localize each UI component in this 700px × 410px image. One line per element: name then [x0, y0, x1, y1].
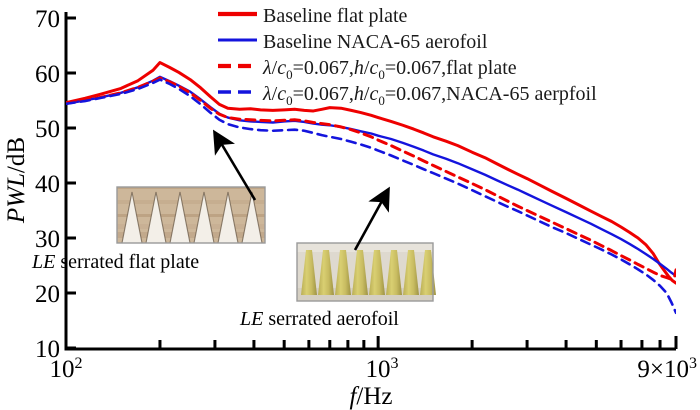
y-tick-70: 70 — [35, 6, 60, 33]
legend: Baseline flat plate Baseline NACA-65 aer… — [218, 5, 597, 108]
y-tick-50: 50 — [35, 116, 60, 143]
y-tick-20: 20 — [35, 281, 60, 308]
x-tick-9000: 9×103 — [637, 355, 697, 383]
legend-label-1: Baseline NACA-65 aerofoil — [263, 31, 488, 53]
legend-label-0: Baseline flat plate — [263, 5, 408, 27]
y-tick-40: 40 — [35, 171, 60, 198]
inset-aerofoil-photo — [297, 243, 436, 301]
arrow-to-aerofoil — [355, 190, 388, 250]
y-axis-labels: 70 60 50 40 30 20 10 — [35, 6, 60, 363]
legend-item-serrated-flat-plate[interactable]: λ/c0=0.067,h/c0=0.067,flat plate — [218, 57, 517, 82]
y-axis-title: PWL/dB — [3, 137, 30, 224]
legend-item-baseline-flat-plate[interactable]: Baseline flat plate — [218, 5, 408, 27]
y-tick-60: 60 — [35, 61, 60, 88]
caption-aerofoil: LE serrated aerofoil — [239, 308, 399, 330]
x-tick-100: 102 — [50, 355, 83, 383]
legend-label-3: λ/c0=0.067,h/c0=0.067,NACA-65 aerpfoil — [262, 83, 597, 108]
legend-label-2: λ/c0=0.067,h/c0=0.067,flat plate — [262, 57, 517, 82]
inset-flat-plate-photo — [117, 187, 265, 243]
caption-flat-plate: LE serrated flat plate — [31, 251, 199, 273]
legend-item-serrated-naca65[interactable]: λ/c0=0.067,h/c0=0.067,NACA-65 aerpfoil — [218, 83, 597, 108]
x-axis-title: f/Hz — [349, 383, 392, 410]
x-tick-1000: 103 — [366, 355, 399, 383]
legend-item-baseline-naca65[interactable]: Baseline NACA-65 aerofoil — [218, 31, 488, 53]
figure-container: 70 60 50 40 30 20 10 102 103 9×103 f/Hz — [0, 0, 700, 410]
y-tick-30: 30 — [35, 226, 60, 253]
x-axis-labels: 102 103 9×103 — [50, 355, 698, 383]
chart-svg: 70 60 50 40 30 20 10 102 103 9×103 f/Hz — [0, 0, 700, 410]
x-axis-ticks — [66, 336, 676, 349]
